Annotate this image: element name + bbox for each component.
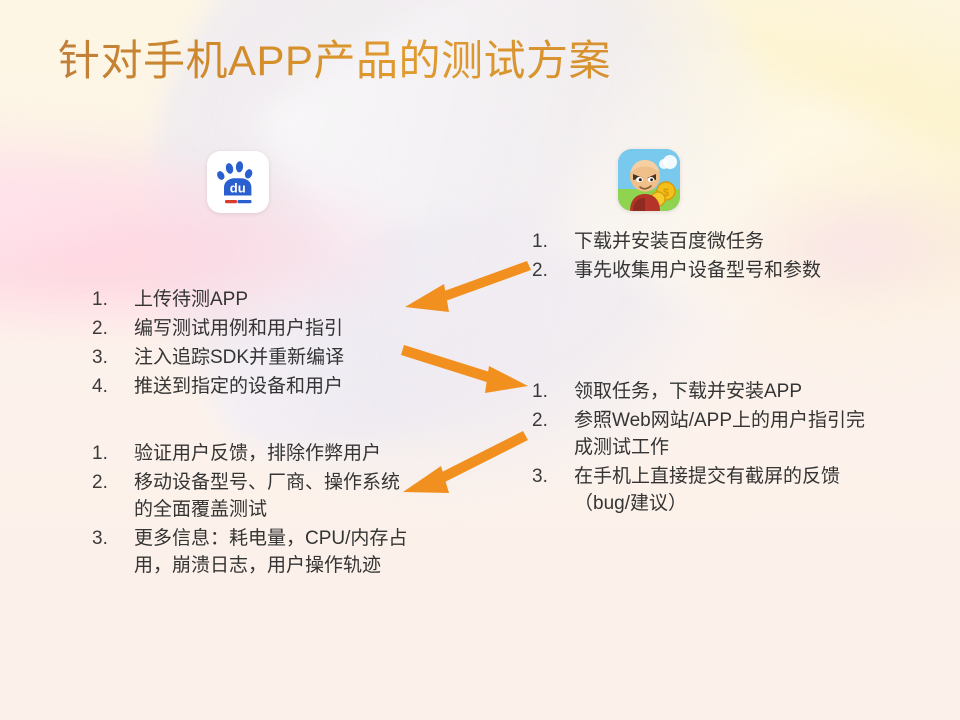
list-item: 在手机上直接提交有截屏的反馈（bug/建议） [528, 464, 878, 518]
list-item: 验证用户反馈，排除作弊用户 [88, 441, 413, 468]
list-item: 编写测试用例和用户指引 [88, 316, 408, 343]
platform-result-steps: 验证用户反馈，排除作弊用户 移动设备型号、厂商、操作系统的全面覆盖测试 更多信息… [88, 441, 413, 582]
list-item: 注入追踪SDK并重新编译 [88, 345, 408, 372]
baidu-paw-icon: du [207, 151, 269, 213]
presentation-slide: 针对手机APP产品的测试方案 du [0, 0, 960, 720]
baidu-app-icon[interactable]: du [207, 151, 269, 213]
list-item: 推送到指定的设备和用户 [88, 374, 408, 401]
background-pink-glow-left-inner [0, 120, 240, 270]
ordered-list: 下载并安装百度微任务 事先收集用户设备型号和参数 [528, 229, 888, 285]
ordered-list: 验证用户反馈，排除作弊用户 移动设备型号、厂商、操作系统的全面覆盖测试 更多信息… [88, 441, 413, 580]
list-item: 事先收集用户设备型号和参数 [528, 258, 888, 285]
ordered-list: 上传待测APP 编写测试用例和用户指引 注入追踪SDK并重新编译 推送到指定的设… [88, 287, 408, 401]
list-item: 移动设备型号、厂商、操作系统的全面覆盖测试 [88, 470, 413, 524]
tester-prepare-steps: 下载并安装百度微任务 事先收集用户设备型号和参数 [528, 229, 888, 287]
list-item: 更多信息：耗电量，CPU/内存占用，崩溃日志，用户操作轨迹 [88, 526, 413, 580]
baidu-wordmark: du [230, 181, 246, 196]
list-item: 上传待测APP [88, 287, 408, 314]
cartoon-character-coins-icon: $ [618, 149, 680, 211]
page-title: 针对手机APP产品的测试方案 [58, 36, 611, 86]
platform-prepare-steps: 上传待测APP 编写测试用例和用户指引 注入追踪SDK并重新编译 推送到指定的设… [88, 287, 408, 403]
ordered-list: 领取任务，下载并安装APP 参照Web网站/APP上的用户指引完成测试工作 在手… [528, 379, 878, 518]
list-item: 领取任务，下载并安装APP [528, 379, 878, 406]
baidu-weirenwu-app-icon[interactable]: $ [618, 149, 680, 211]
list-item: 参照Web网站/APP上的用户指引完成测试工作 [528, 408, 878, 462]
tester-execute-steps: 领取任务，下载并安装APP 参照Web网站/APP上的用户指引完成测试工作 在手… [528, 379, 878, 520]
list-item: 下载并安装百度微任务 [528, 229, 888, 256]
